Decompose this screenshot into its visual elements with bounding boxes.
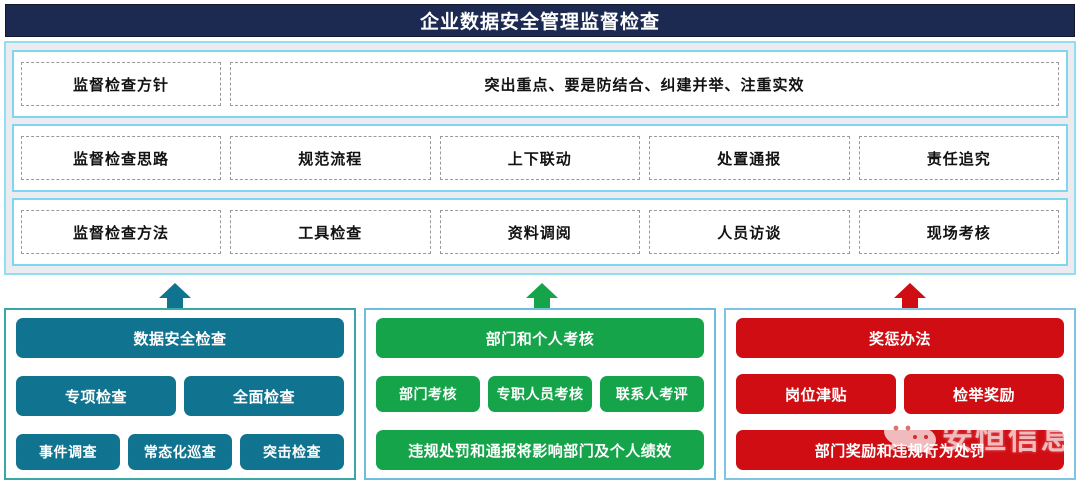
bottom-panels: 数据安全检查 专项检查 全面检查 事件调查 常态化巡查 突击检查 部门和个人考核…	[4, 308, 1076, 480]
inspection-chip-surprise: 突击检查	[240, 434, 344, 470]
supervision-framework: 监督检查方针 突出重点、要是防结合、纠建并举、注重实效 监督检查思路 规范流程 …	[4, 41, 1076, 275]
method-item-3: 人员访谈	[649, 210, 850, 254]
approach-item-2: 上下联动	[440, 136, 641, 180]
approach-item-3: 处置通报	[649, 136, 850, 180]
framework-row-policy: 监督检查方针 突出重点、要是防结合、纠建并举、注重实效	[12, 50, 1068, 118]
page-title: 企业数据安全管理监督检查	[420, 7, 660, 34]
row-label-method: 监督检查方法	[21, 210, 221, 254]
panel-assessment-row-3: 违规处罚和通报将影响部门及个人绩效	[376, 430, 704, 470]
assessment-chip-penalty-note: 违规处罚和通报将影响部门及个人绩效	[376, 430, 704, 470]
inspection-chip-incident: 事件调查	[16, 434, 120, 470]
method-item-1: 工具检查	[230, 210, 431, 254]
framework-row-approach: 监督检查思路 规范流程 上下联动 处置通报 责任追究	[12, 124, 1068, 192]
assessment-chip-liaison: 联系人考评	[600, 376, 704, 412]
method-item-4: 现场考核	[859, 210, 1060, 254]
panel-inspection-row-2: 专项检查 全面检查	[16, 376, 344, 416]
reward-chip-whistleblow: 检举奖励	[904, 374, 1064, 414]
assessment-chip-department: 部门考核	[376, 376, 480, 412]
inspection-chip-comprehensive: 全面检查	[184, 376, 344, 416]
panel-assessment-header: 部门和个人考核	[376, 318, 704, 358]
panel-reward-header: 奖惩办法	[736, 318, 1064, 358]
row-label-approach: 监督检查思路	[21, 136, 221, 180]
panel-inspection: 数据安全检查 专项检查 全面检查 事件调查 常态化巡查 突击检查	[4, 308, 356, 480]
framework-row-method: 监督检查方法 工具检查 资料调阅 人员访谈 现场考核	[12, 198, 1068, 266]
approach-item-4: 责任追究	[859, 136, 1060, 180]
inspection-chip-special: 专项检查	[16, 376, 176, 416]
reward-chip-dept-penalty: 部门奖励和违规行为处罚	[736, 430, 1064, 470]
panel-assessment: 部门和个人考核 部门考核 专职人员考核 联系人考评 违规处罚和通报将影响部门及个…	[364, 308, 716, 480]
panel-inspection-row-3: 事件调查 常态化巡查 突击检查	[16, 434, 344, 470]
panel-reward-row-3: 部门奖励和违规行为处罚	[736, 430, 1064, 470]
page-title-bar: 企业数据安全管理监督检查	[5, 4, 1075, 37]
assessment-chip-fulltime: 专职人员考核	[488, 376, 592, 412]
policy-statement: 突出重点、要是防结合、纠建并举、注重实效	[230, 62, 1059, 106]
inspection-chip-routine: 常态化巡查	[128, 434, 232, 470]
panel-inspection-header: 数据安全检查	[16, 318, 344, 358]
method-item-2: 资料调阅	[440, 210, 641, 254]
reward-chip-allowance: 岗位津贴	[736, 374, 896, 414]
panel-assessment-row-2: 部门考核 专职人员考核 联系人考评	[376, 376, 704, 412]
row-label-policy: 监督检查方针	[21, 62, 221, 106]
approach-item-1: 规范流程	[230, 136, 431, 180]
panel-reward-row-2: 岗位津贴 检举奖励	[736, 374, 1064, 414]
panel-reward-punishment: 奖惩办法 岗位津贴 检举奖励 部门奖励和违规行为处罚	[724, 308, 1076, 480]
